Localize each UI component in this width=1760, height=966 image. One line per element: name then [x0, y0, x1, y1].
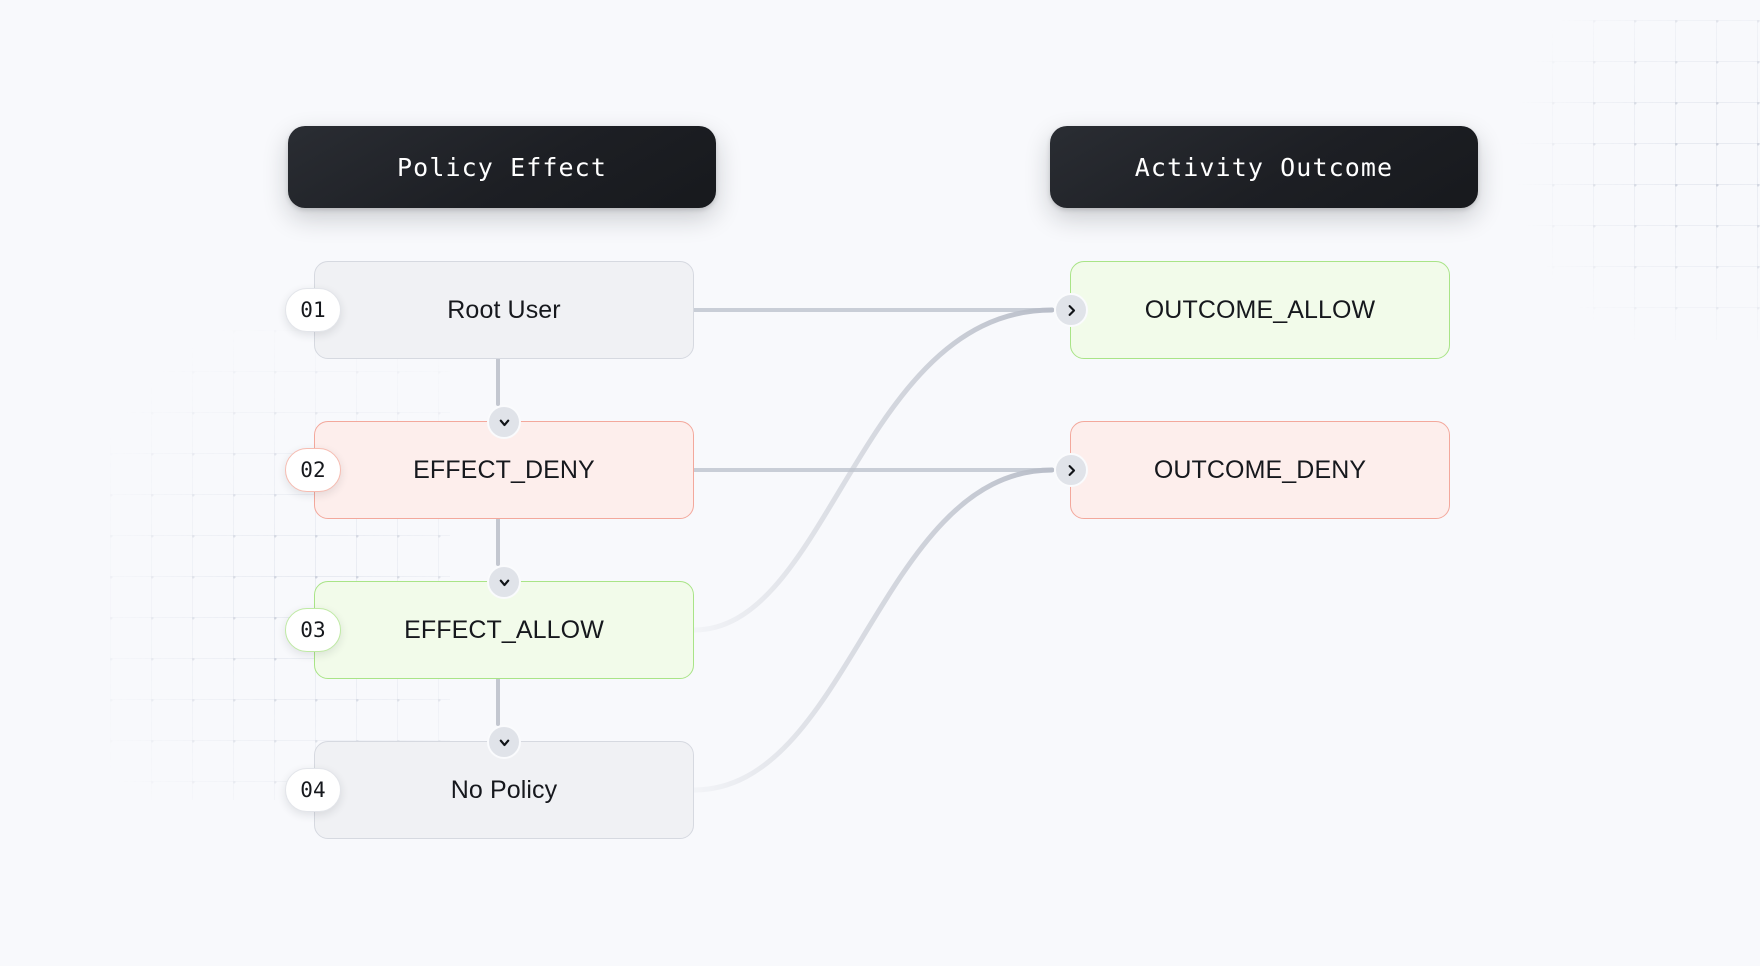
node-outcome-deny-label: OUTCOME_DENY	[1154, 456, 1366, 485]
step-badge-02: 02	[285, 448, 341, 492]
step-badge-04: 04	[285, 768, 341, 812]
node-effect-deny-label: EFFECT_DENY	[413, 456, 595, 485]
edge-layer	[0, 0, 1760, 966]
node-no-policy[interactable]: 04 No Policy	[314, 741, 694, 839]
edge-effect-allow-to-outcome-allow	[694, 310, 1052, 630]
node-outcome-allow-label: OUTCOME_ALLOW	[1145, 296, 1376, 325]
step-badge-03: 03	[285, 608, 341, 652]
chevron-down-icon[interactable]	[487, 565, 521, 599]
node-effect-allow-label: EFFECT_ALLOW	[404, 616, 604, 645]
column-header-left-label: Policy Effect	[397, 153, 607, 182]
node-outcome-allow[interactable]: OUTCOME_ALLOW	[1070, 261, 1450, 359]
node-no-policy-label: No Policy	[451, 776, 558, 805]
chevron-down-icon[interactable]	[487, 725, 521, 759]
node-root-user-label: Root User	[447, 296, 560, 325]
column-header-activity-outcome: Activity Outcome	[1050, 126, 1478, 208]
column-header-policy-effect: Policy Effect	[288, 126, 716, 208]
node-outcome-deny[interactable]: OUTCOME_DENY	[1070, 421, 1450, 519]
background-dot-grid-bottom-left	[110, 330, 450, 800]
chevron-right-icon[interactable]	[1054, 293, 1088, 327]
node-root-user[interactable]: 01 Root User	[314, 261, 694, 359]
column-header-right-label: Activity Outcome	[1135, 153, 1393, 182]
edge-no-policy-to-outcome-deny	[694, 470, 1052, 790]
background-dot-grid-top-right	[1470, 20, 1760, 340]
diagram-canvas: Policy Effect Activity Outcome	[0, 0, 1760, 966]
chevron-down-icon[interactable]	[487, 405, 521, 439]
node-effect-allow[interactable]: 03 EFFECT_ALLOW	[314, 581, 694, 679]
node-effect-deny[interactable]: 02 EFFECT_DENY	[314, 421, 694, 519]
step-badge-01: 01	[285, 288, 341, 332]
chevron-right-icon[interactable]	[1054, 453, 1088, 487]
